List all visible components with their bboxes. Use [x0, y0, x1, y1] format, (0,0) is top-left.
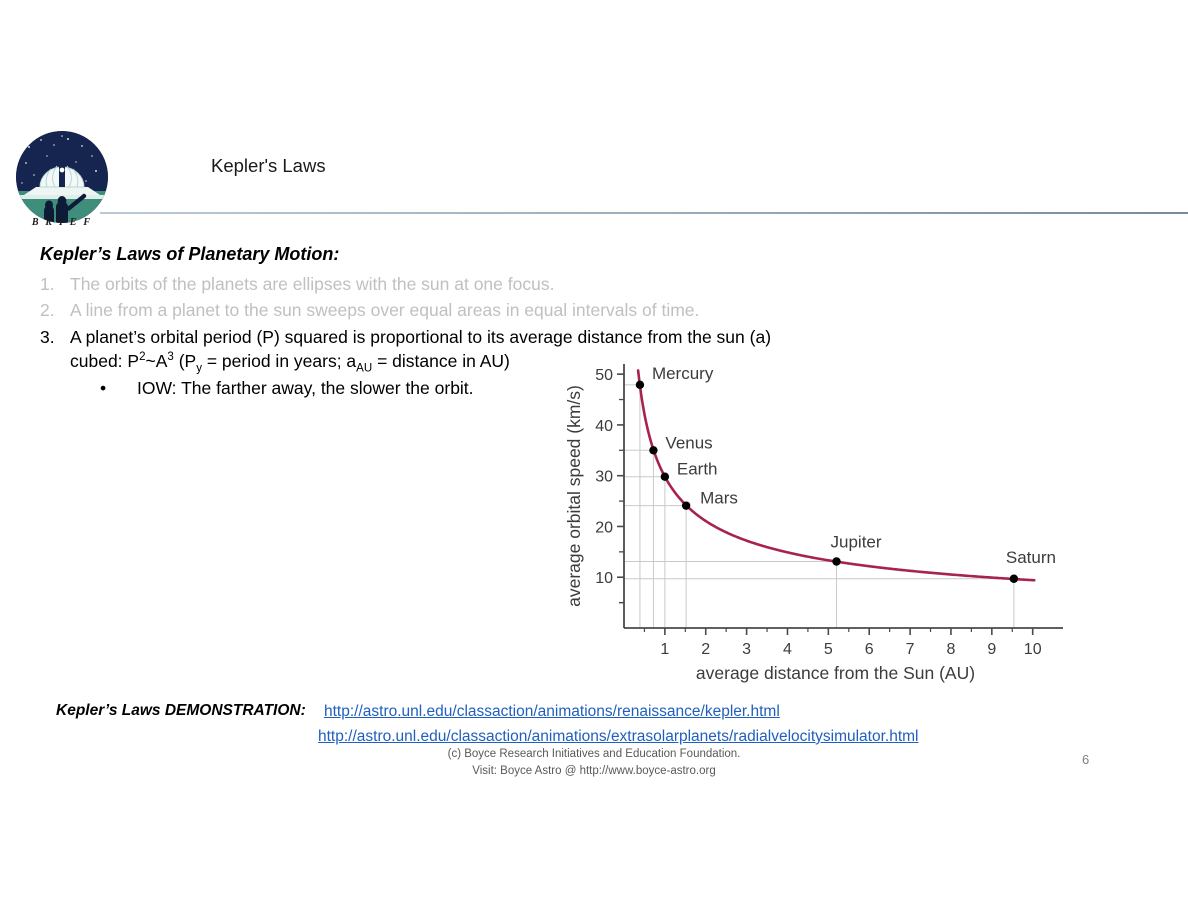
law-number-3: 3. [40, 324, 70, 350]
law3-distance-au: = distance in AU) [372, 351, 510, 371]
slide-canvas: B R I E F Kepler's Laws Kepler’s Laws of… [0, 0, 1188, 918]
kepler-demo-link[interactable]: http://astro.unl.edu/classaction/animati… [324, 703, 780, 721]
law-item-2: 2.A line from a planet to the sun sweeps… [40, 297, 699, 323]
x-tick-label: 10 [1024, 641, 1042, 658]
law-text-1: The orbits of the planets are ellipses w… [70, 274, 554, 294]
data-point-saturn [1010, 575, 1018, 583]
logo-badge [16, 131, 108, 223]
page-title: Kepler's Laws [211, 155, 326, 177]
brief-logo: B R I E F [16, 131, 108, 223]
law-item-3: 3.A planet’s orbital period (P) squared … [40, 324, 771, 350]
bullet-glyph-icon: • [100, 378, 137, 399]
logo-brief-text: B R I E F [16, 217, 108, 228]
law3-subscript-au: AU [356, 363, 372, 375]
orbital-speed-vs-distance-chart: 102030405012345678910MercuryVenusEarthMa… [560, 352, 1070, 692]
section-subtitle: Kepler’s Laws of Planetary Motion: [40, 244, 339, 265]
footer-copyright: (c) Boyce Research Initiatives and Educa… [0, 748, 1188, 760]
radial-velocity-simulator-link[interactable]: http://astro.unl.edu/classaction/animati… [318, 728, 919, 746]
data-point-earth [661, 473, 669, 481]
point-label-mercury: Mercury [652, 364, 714, 383]
data-point-venus [649, 446, 657, 454]
x-tick-label: 7 [906, 641, 915, 658]
y-tick-label: 40 [595, 418, 613, 435]
slide-number: 6 [1082, 752, 1089, 767]
data-point-mercury [636, 381, 644, 389]
law-number-1: 1. [40, 271, 70, 297]
x-axis-label: average distance from the Sun (AU) [696, 663, 975, 683]
observatory-logo-icon [16, 131, 108, 223]
point-label-venus: Venus [665, 433, 712, 452]
x-tick-label: 2 [701, 641, 710, 658]
point-label-earth: Earth [677, 460, 718, 479]
data-point-mars [682, 501, 690, 509]
law-text-3: A planet’s orbital period (P) squared is… [70, 327, 771, 347]
law-3-sub-text: IOW: The farther away, the slower the or… [137, 378, 474, 398]
y-axis-label: average orbital speed (km/s) [564, 385, 584, 607]
law-text-2: A line from a planet to the sun sweeps o… [70, 300, 699, 320]
x-tick-label: 8 [947, 641, 956, 658]
law3-paren-p: (P [174, 351, 196, 371]
header-divider [100, 212, 1188, 214]
data-point-jupiter [832, 557, 840, 565]
law3-period-years: = period in years; a [202, 351, 356, 371]
law3-prefix: cubed: P [70, 351, 139, 371]
chart-svg: 102030405012345678910MercuryVenusEarthMa… [560, 352, 1070, 692]
law-3-sub-bullet: •IOW: The farther away, the slower the o… [100, 378, 474, 399]
x-tick-label: 4 [783, 641, 792, 658]
y-tick-label: 10 [595, 570, 613, 587]
point-label-mars: Mars [700, 489, 738, 508]
point-label-jupiter: Jupiter [831, 532, 882, 551]
x-tick-label: 3 [742, 641, 751, 658]
law-number-2: 2. [40, 297, 70, 323]
y-tick-label: 30 [595, 469, 613, 486]
demonstration-label: Kepler’s Laws DEMONSTRATION: [56, 702, 306, 720]
x-tick-label: 6 [865, 641, 874, 658]
y-tick-label: 20 [595, 519, 613, 536]
law-item-1: 1.The orbits of the planets are ellipses… [40, 271, 554, 297]
x-tick-label: 5 [824, 641, 833, 658]
y-tick-label: 50 [595, 367, 613, 384]
x-tick-label: 9 [987, 641, 996, 658]
law-3-continuation: cubed: P2~A3 (Py = period in years; aAU … [70, 351, 510, 372]
footer-visit: Visit: Boyce Astro @ http://www.boyce-as… [0, 765, 1188, 777]
law3-tilde-a: ~A [146, 351, 168, 371]
point-label-saturn: Saturn [1006, 548, 1056, 567]
x-tick-label: 1 [660, 641, 669, 658]
